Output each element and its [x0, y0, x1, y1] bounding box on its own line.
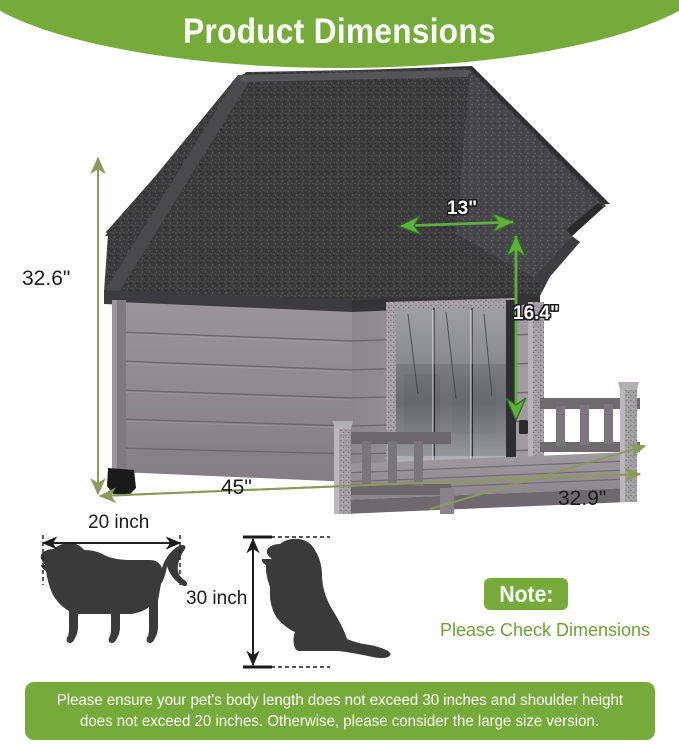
height-dimension-label: 32.6"	[22, 267, 70, 291]
footer-line-2: does not exceed 20 inches. Otherwise, pl…	[80, 711, 599, 732]
side-wall	[118, 302, 352, 482]
standing-dog-silhouette	[41, 543, 188, 643]
porch-post-mid	[440, 488, 454, 514]
footer-banner: Please ensure your pet's body length doe…	[25, 682, 655, 740]
product-illustration: 32.6" 45" 32.9" 13" 16.4"	[0, 64, 679, 514]
door-height-dimension-label: 16.4"	[513, 303, 559, 325]
door-flap-strip	[473, 308, 506, 480]
width-dimension-label: 45"	[221, 476, 252, 500]
door-hinge	[519, 420, 528, 434]
footer-line-1: Please ensure your pet's body length doe…	[57, 690, 623, 711]
sitting-dog-silhouette	[262, 539, 391, 658]
dog-house-drawing	[0, 64, 679, 514]
page-title: Product Dimensions	[34, 12, 645, 52]
door-width-dimension-label: 13"	[447, 198, 477, 220]
depth-dimension-label: 32.9"	[558, 487, 606, 511]
note-badge: Note:	[484, 578, 568, 610]
shoulder-height-label: 30 inch	[186, 588, 247, 610]
foot-pad-left	[107, 468, 136, 495]
door-flap-strip	[435, 308, 471, 480]
note-subtitle: Please Check Dimensions	[420, 620, 670, 641]
door-jamb-right	[506, 300, 516, 484]
size-guide: 20 inch 30 inch	[0, 515, 679, 680]
size-guide-drawing	[0, 515, 679, 680]
body-length-label: 20 inch	[88, 512, 149, 534]
product-dimensions-infographic: Product Dimensions	[0, 0, 679, 746]
railing-right-balusters	[556, 404, 613, 446]
note-badge-label: Note:	[499, 581, 553, 608]
